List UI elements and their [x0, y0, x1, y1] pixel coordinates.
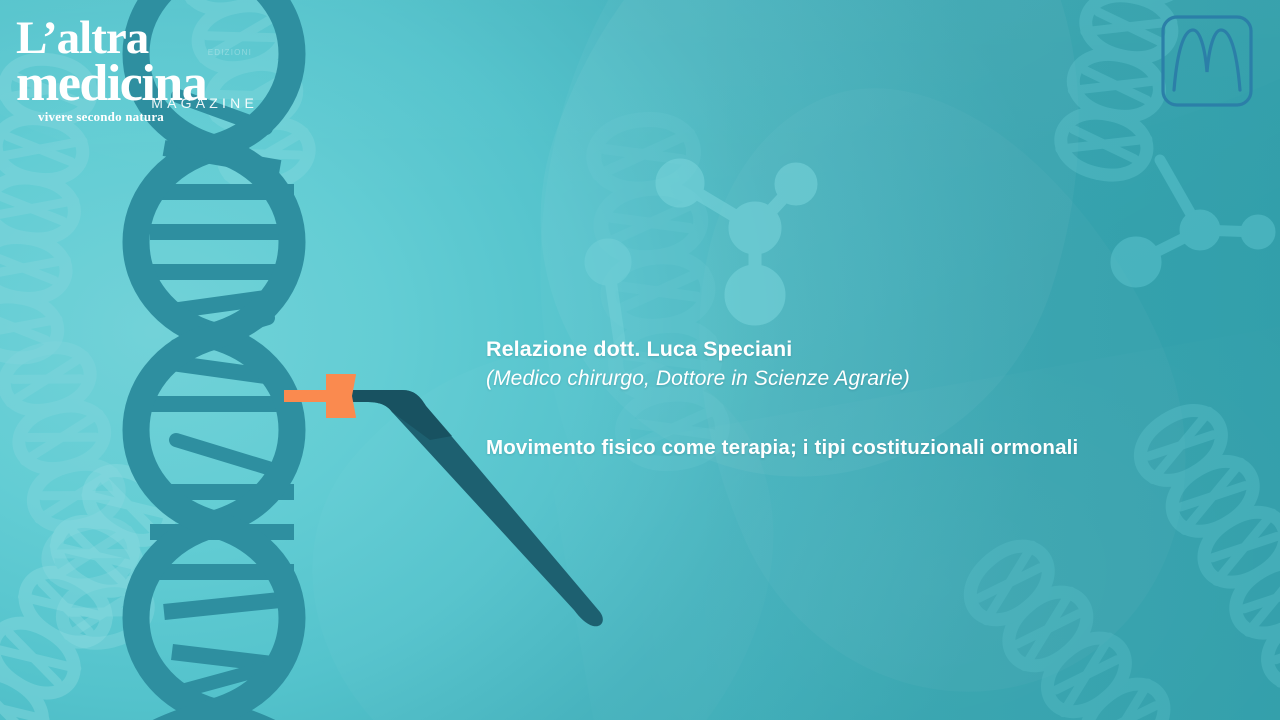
logo-micro-mark: EDIZIONI	[208, 48, 252, 57]
brand-logo: L’altra medicina vivere secondo natura M…	[16, 18, 266, 110]
talk-title: Movimento fisico come terapia; i tipi co…	[486, 434, 1206, 462]
text-block: Relazione dott. Luca Speciani (Medico ch…	[486, 334, 1206, 462]
logo-tagline: vivere secondo natura	[38, 109, 266, 125]
speaker-credentials: (Medico chirurgo, Dottore in Scienze Agr…	[486, 364, 1206, 394]
logo-magazine-label: MAGAZINE	[151, 95, 258, 111]
m-wave-mark-icon	[1160, 14, 1254, 108]
orange-left-arrow	[284, 374, 356, 418]
speaker-name: Relazione dott. Luca Speciani	[486, 334, 1206, 364]
slide-canvas: L’altra medicina vivere secondo natura M…	[0, 0, 1280, 720]
